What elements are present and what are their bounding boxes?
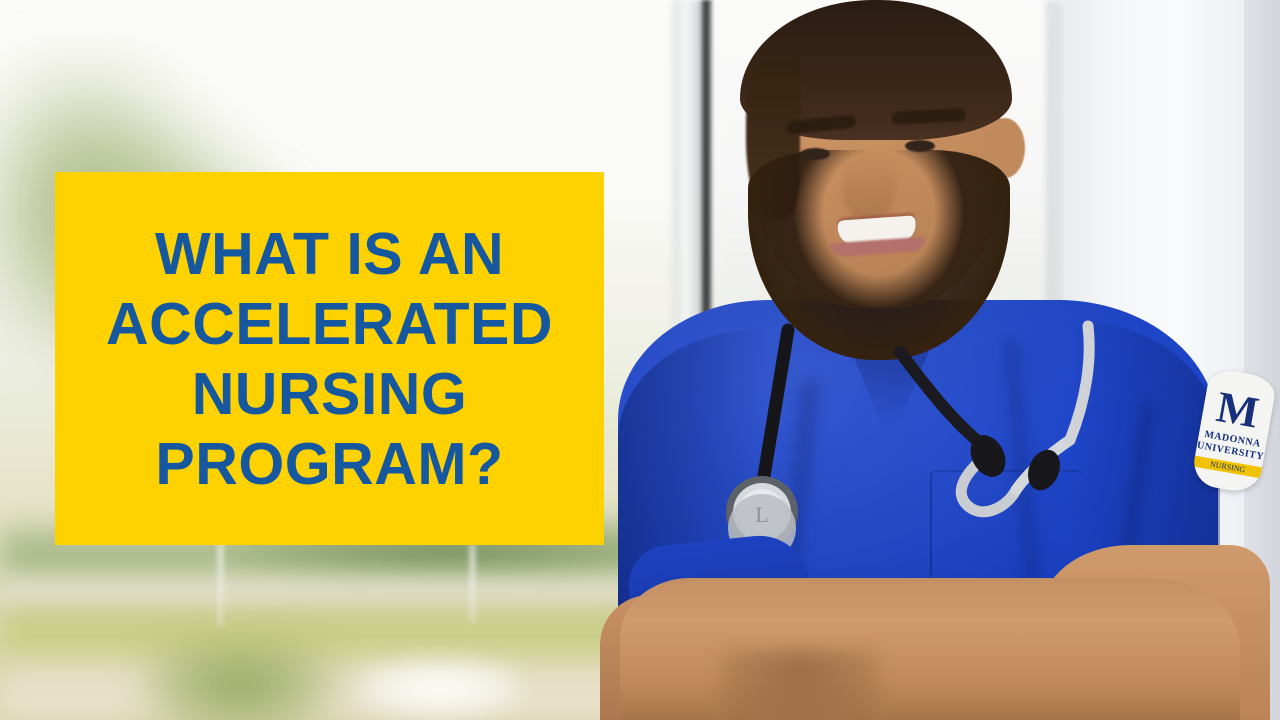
svg-text:L: L <box>755 502 768 527</box>
title-line-4: PROGRAM? <box>155 429 503 499</box>
title-card: WHAT IS AN ACCELERATED NURSING PROGRAM? <box>55 172 604 545</box>
title-line-3: NURSING <box>192 359 468 429</box>
video-frame: L M MADONNA UNIVERSITY NURSING WHAT IS A… <box>0 0 1280 720</box>
background-shrub <box>140 640 340 720</box>
title-line-2: ACCELERATED <box>106 289 553 359</box>
nursing-student-photo: L M MADONNA UNIVERSITY NURSING <box>600 0 1280 720</box>
title-line-1: WHAT IS AN <box>155 219 504 289</box>
background-sidewalk <box>0 660 700 720</box>
background-car <box>360 660 520 716</box>
crossed-forearm <box>620 578 1240 720</box>
arm-shadow <box>720 650 880 720</box>
